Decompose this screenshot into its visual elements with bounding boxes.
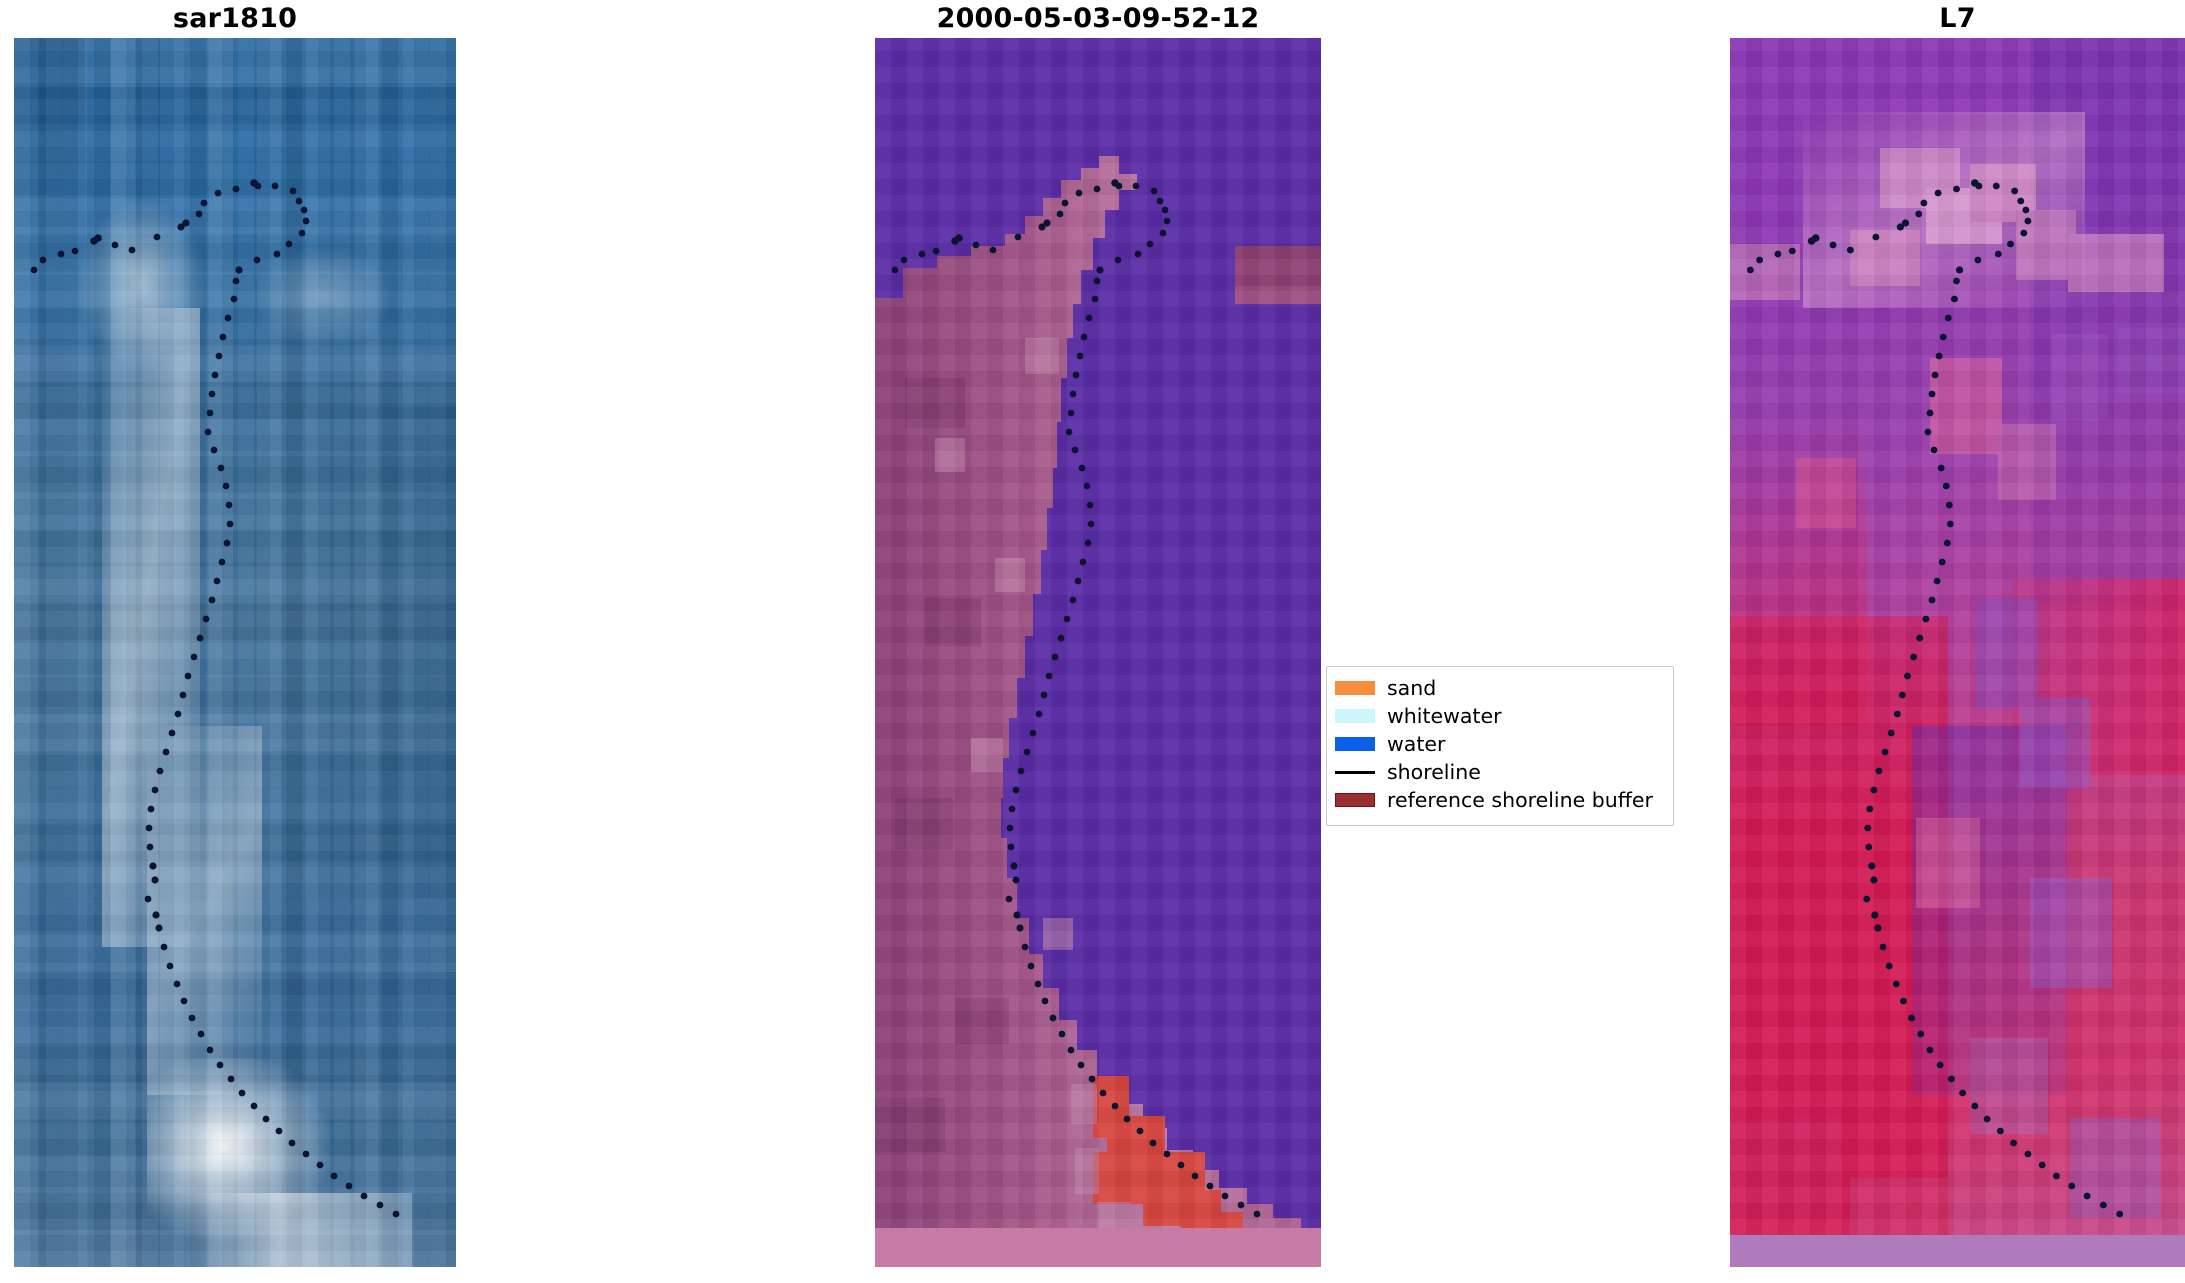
legend-swatch-whitewater: [1335, 709, 1375, 723]
legend-item-shoreline[interactable]: shoreline: [1327, 758, 1673, 786]
panel-sar: sar1810: [14, 0, 456, 1283]
panel-classification: 2000-05-03-09-52-12: [875, 0, 1321, 1283]
legend-swatch-reference-shoreline-buffer: [1335, 793, 1375, 807]
legend-line-shoreline: [1335, 771, 1375, 774]
panel-title-classification: 2000-05-03-09-52-12: [875, 0, 1321, 38]
legend-label-water: water: [1387, 734, 1445, 755]
legend-label-sand: sand: [1387, 678, 1436, 699]
l7-pixel-grid: [1730, 38, 2185, 1267]
panel-title-sar: sar1810: [14, 0, 456, 38]
legend-label-reference-shoreline-buffer: reference shoreline buffer: [1387, 790, 1653, 811]
legend-item-reference-shoreline-buffer[interactable]: reference shoreline buffer: [1327, 786, 1673, 814]
classification-image: [875, 38, 1321, 1267]
l7-bottom-strip: [1730, 1235, 2185, 1267]
figure-canvas: sar1810: [0, 0, 2185, 1283]
legend-label-shoreline: shoreline: [1387, 762, 1481, 783]
classification-bottom-strip: [875, 1228, 1321, 1267]
sar-pixel-grid: [14, 38, 456, 1267]
legend-box: sand whitewater water shoreline referenc…: [1326, 666, 1674, 826]
legend-label-whitewater: whitewater: [1387, 706, 1502, 727]
legend-item-water[interactable]: water: [1327, 730, 1673, 758]
l7-image: [1730, 38, 2185, 1267]
panel-title-l7: L7: [1730, 0, 2185, 38]
classification-pixel-grid: [875, 38, 1321, 1267]
legend-item-whitewater[interactable]: whitewater: [1327, 702, 1673, 730]
sar-image: [14, 38, 456, 1267]
legend-swatch-sand: [1335, 681, 1375, 695]
legend-item-sand[interactable]: sand: [1327, 674, 1673, 702]
legend-swatch-water: [1335, 737, 1375, 751]
panel-l7: L7: [1730, 0, 2185, 1283]
